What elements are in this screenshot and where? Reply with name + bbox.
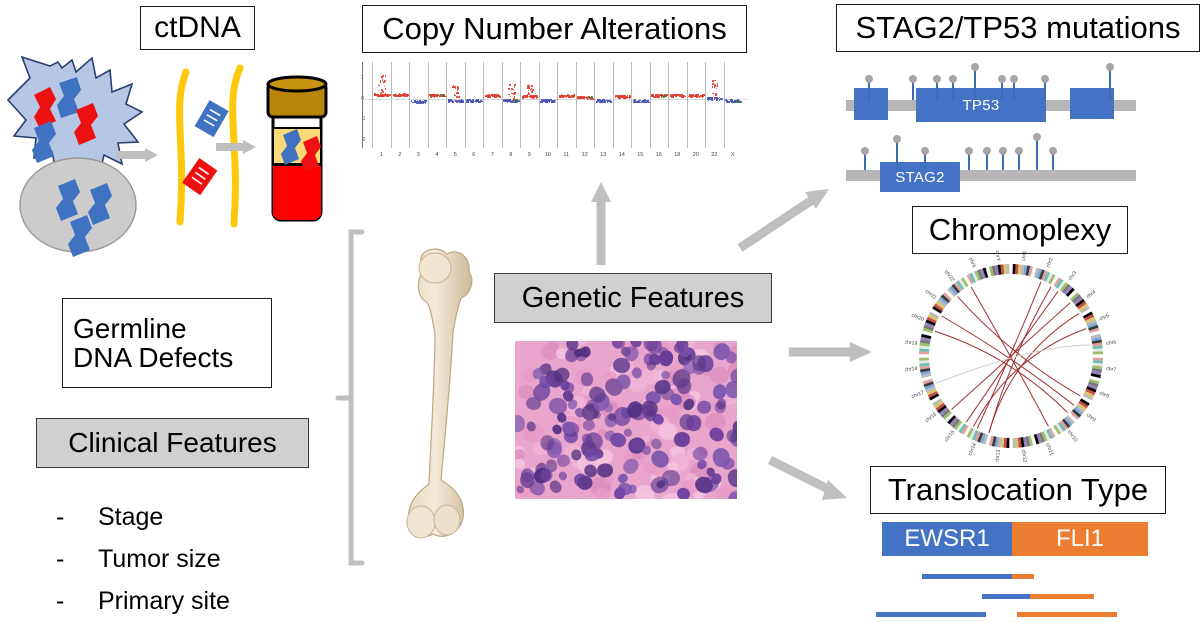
cna-data-point [716,99,718,101]
ctdna-title-text: ctDNA [154,12,241,44]
blood-collection-tube-icon [268,77,326,220]
cna-x-tick-label: 5 [454,152,457,158]
arrow-genetic-to-mutations [740,189,829,248]
cna-data-point [726,101,728,103]
tp53-mutation-marker [1010,75,1018,83]
tp53-mutation-stem [974,70,976,100]
cna-data-point [572,96,574,98]
cna-data-point [566,96,568,98]
circos-chromosome-label: chrX [967,257,977,270]
panel-title-clinical: Clinical Features [36,418,309,468]
circos-chromosome-label: chr11 [1044,442,1054,456]
cna-x-tick-label: 14 [619,152,625,158]
stag2-mutation-marker [861,147,869,155]
cna-data-point [658,96,660,98]
cna-data-point [393,94,395,96]
circos-translocation-link [966,291,1058,422]
histology-nucleus [583,420,596,432]
cna-x-tick-label: 13 [600,152,606,158]
circos-chromosome-label: chr14 [967,442,978,456]
cna-data-point [514,86,516,88]
cna-data-point [396,95,398,97]
germline-line2: DNA Defects [73,343,233,372]
circos-ideogram-band [919,351,929,354]
circos-chromosome-label: chr22 [943,269,956,283]
cna-chromosome-separator [446,62,447,148]
stag2-mutation-stem [1002,154,1004,170]
fusion-partner3-label: FLI1 [1056,525,1104,553]
tp53-mutation-stem [1044,82,1046,100]
histology-nucleus [541,468,553,482]
cna-data-point [382,75,384,77]
cna-x-tick-label: 20 [693,152,699,158]
stag2-gene-label: STAG2 [895,169,945,186]
circos-plot-icon: chr1chr2chr3chr4chr5chr6chr7chr8chr9chr1… [905,250,1117,462]
cna-data-point [637,101,639,103]
stag2-mutation-stem [1036,140,1038,170]
circos-translocation-link [973,329,1086,427]
cna-data-point [528,93,530,95]
cna-data-point [528,85,530,87]
histology-nucleus [541,435,555,450]
cna-data-point [714,84,716,86]
fusion-variant-row [1012,574,1034,579]
cna-data-point [707,98,709,100]
cna-data-point [534,95,536,97]
cna-data-point [642,100,644,102]
cna-data-point [508,88,510,90]
tp53-exon-block [1070,88,1114,119]
tp53-mutation-stem [868,82,870,100]
cna-data-point [515,101,517,103]
cna-x-tick-label: 10 [545,152,551,158]
stag2-mutation-stem [1018,154,1020,170]
femur-bone-icon [395,246,491,558]
histology-nucleus [547,479,564,496]
fusion-partner5-block: EWSR1 [882,522,1012,556]
circos-ideogram-band [1006,438,1009,448]
cna-data-point [577,97,579,99]
cna-data-point [716,88,718,90]
histology-nucleus [580,346,591,358]
circos-chromosome-label: chr2 [1045,257,1054,269]
circos-chromosome-label: chr17 [911,390,925,401]
list-item: - Stage [56,496,316,538]
chromoplexy-title-text: Chromoplexy [929,214,1112,247]
cna-chromosome-separator [668,62,669,148]
cna-data-point [378,85,380,87]
cna-data-point [430,96,432,98]
cna-data-point [452,86,454,88]
tp53-mutation-marker [949,75,957,83]
cna-chromosome-separator [705,62,706,148]
round-normal-cell-icon [20,158,136,257]
stag2-mutation-stem [896,142,898,170]
circos-chromosome-label: chr6 [1106,340,1117,347]
cna-x-tick-label: X [731,152,735,158]
tumor-chromosome-group [32,77,98,163]
cna-data-point [450,99,452,101]
circos-ideogram-band [1093,358,1103,361]
clinical-title-text: Clinical Features [68,428,277,457]
circos-chromosome-label: chr15 [943,429,956,443]
circos-ideogram-band [919,358,929,361]
cna-data-point [508,101,510,103]
cna-data-point [600,101,602,103]
list-item-label: Primary site [98,580,230,622]
cna-data-point [512,101,514,103]
cna-chromosome-separator [409,62,410,148]
cna-data-point [458,93,460,95]
cna-data-point [449,102,451,104]
cna-data-point [499,96,501,98]
tp53-mutation-stem [952,82,954,100]
cna-data-point [385,75,387,77]
cna-data-point [460,100,462,102]
stag2-mutation-stem [864,154,866,170]
cna-data-point [629,97,631,99]
circos-chromosome-label: chr19 [905,339,918,347]
arrow-genetic-to-translocation [770,460,847,500]
cna-data-point [496,96,498,98]
cna-chromosome-separator [428,62,429,148]
circos-chromosome-label: chr13 [994,449,1002,462]
cna-data-point [522,96,524,98]
cna-data-point [492,96,494,98]
stag2-mutation-stem [968,154,970,170]
histology-nucleus [692,355,707,371]
cna-chromosome-separator [520,62,521,148]
cna-data-point [569,96,571,98]
stag2-lollipop-track: STAG2 [846,126,1136,190]
cna-x-tick-label: 3 [417,152,420,158]
cna-data-point [532,89,534,91]
panel-title-ctdna: ctDNA [140,6,255,50]
cna-data-point [551,101,553,103]
cna-chromosome-separator [650,62,651,148]
histology-nucleus [687,415,702,431]
cna-data-point [510,96,512,98]
fusion-partner3-block: FLI1 [1012,522,1148,556]
cna-data-point [663,96,665,98]
cna-data-point [609,100,611,102]
cna-data-point [425,102,427,104]
stag2-mutation-marker [1033,133,1041,141]
cna-data-point [545,99,547,101]
cna-data-point [419,100,421,102]
bullet-dash: - [56,538,98,580]
list-item: - Tumor size [56,538,316,580]
cna-chromosome-separator [502,62,503,148]
stag2-mutation-stem [924,154,926,170]
cna-chromosome-separator [613,62,614,148]
cna-data-point [479,101,481,103]
circos-chromosome-label: chr9 [1085,412,1097,423]
cna-data-point [455,87,457,89]
cna-chromosome-separator [594,62,595,148]
cna-data-point [439,96,441,98]
histology-nucleus [674,432,690,447]
histology-stroma-blob [595,488,610,499]
tp53-mutation-stem [936,82,938,100]
circos-chromosome-label: chr12 [1020,449,1028,462]
histology-stroma-blob [710,367,730,384]
stag2-mutation-marker [983,147,991,155]
cna-data-point [681,96,683,98]
arrow-genetic-to-cna [591,182,611,265]
tp53-mutation-stem [1001,82,1003,100]
stag2-mutation-stem [1052,154,1054,170]
fusion-variant-row [1017,612,1117,617]
cna-chromosome-separator [391,62,392,148]
stag2-mutation-marker [965,147,973,155]
arrow-genetic-to-chromoplexy [789,342,872,362]
cna-data-point [644,101,646,103]
cna-x-tick-label: 15 [637,152,643,158]
list-item-label: Tumor size [98,538,221,580]
cna-data-point [690,94,692,96]
fusion-variant-row [1030,594,1094,599]
cna-chromosome-separator [483,62,484,148]
mutations-title-text: STAG2/TP53 mutations [855,12,1180,45]
genetic-title-text: Genetic Features [522,283,744,313]
cna-data-point [715,94,717,96]
cna-chromosome-separator [539,62,540,148]
cna-data-point [494,94,496,96]
circos-chromosome-label: chr18 [905,366,918,374]
cna-data-point [712,93,714,95]
circos-translocation-link [977,282,1041,429]
cna-data-point [457,86,459,88]
cna-data-point [714,97,716,99]
circos-ideogram-band [1093,351,1103,354]
tube-chromosome-group [281,129,321,172]
histology-nucleus [563,382,575,394]
cna-data-point [382,91,384,93]
spiky-tumor-cell-icon [8,57,142,176]
tp53-mutation-marker [971,63,979,71]
cna-chromosome-separator [372,62,373,148]
arrow-dna-to-tube [216,140,256,154]
tp53-mutation-marker [998,75,1006,83]
cna-data-point [496,94,498,96]
arrow-cell-to-dna [116,148,158,162]
clinical-features-list: - Stage - Tumor size - Primary site [56,496,316,622]
cna-data-point [623,95,625,97]
cna-x-tick-label: 6 [472,152,475,158]
panel-title-germline: Germline DNA Defects [62,298,272,388]
cna-data-point [634,102,636,104]
stag2-mutation-marker [1049,147,1057,155]
cna-data-point [467,99,469,101]
list-item-label: Stage [98,496,163,538]
cna-data-point [736,101,738,103]
circos-chromosome-label: chrY [994,250,1001,262]
list-item: - Primary site [56,580,316,622]
tp53-mutation-stem [1109,70,1111,100]
cna-data-point [381,89,383,91]
cna-data-point [514,96,516,98]
cna-data-point [527,87,529,89]
tp53-mutation-stem [912,82,914,100]
cna-data-point [509,84,511,86]
cna-x-tick-label: 2 [398,152,401,158]
cna-data-point [714,80,716,82]
cna-data-point [624,97,626,99]
cna-data-point [381,95,383,97]
circos-ideogram-band [1006,264,1009,274]
he-histology-image [515,341,737,499]
histology-nucleus [558,470,569,481]
dna-strand-icon [180,68,240,224]
fusion-variant-row [876,612,986,617]
circos-chromosome-label: chr8 [1098,390,1110,399]
cna-data-point [514,92,516,94]
panel-title-chromoplexy: Chromoplexy [912,206,1128,254]
cna-data-point [562,97,564,99]
tp53-mutation-marker [933,75,941,83]
cna-data-point [709,98,711,100]
stag2-mutation-marker [893,135,901,143]
circos-translocation-link [952,302,1071,409]
cna-x-tick-label: 22 [711,152,717,158]
cna-chromosome-separator [557,62,558,148]
tp53-exon-block [854,88,888,120]
stag2-mutation-stem [986,154,988,170]
tp53-mutation-stem [1013,82,1015,100]
cna-data-point [425,100,427,102]
germline-line1: Germline [73,314,187,343]
circos-chromosome-label: chr21 [924,288,938,301]
cna-chromosome-separator [631,62,632,148]
cna-data-point [739,101,741,103]
tp53-gene-label: TP53 [962,97,999,114]
circos-chromosome-label: chr4 [1086,289,1098,300]
circos-chromosome-label: chr7 [1106,366,1117,373]
stag2-mutation-marker [999,147,1007,155]
cna-chromosome-separator [576,62,577,148]
tp53-lollipop-track: TP53 [846,62,1136,122]
cna-data-point [380,81,382,83]
fusion-variant-row [982,594,1030,599]
circos-ideogram-band [1013,438,1016,448]
fusion-partner5-label: EWSR1 [904,525,989,553]
circos-chromosome-label: chr3 [1067,270,1078,282]
cna-data-point [531,85,533,87]
histology-nucleus [571,449,581,460]
cna-chromosome-separator [687,62,688,148]
panel-title-mutations: STAG2/TP53 mutations [836,4,1200,52]
cna-data-point [531,91,533,93]
circos-chromosome-label: chr1 [1021,250,1028,261]
cna-data-point [414,102,416,104]
cna-data-point [545,101,547,103]
cna-data-point [508,94,510,96]
circos-chromosome-label: chr5 [1099,313,1111,322]
stag2-mutation-marker [1015,147,1023,155]
cna-data-point [384,80,386,82]
cna-data-point [712,97,714,99]
cna-data-point [472,99,474,101]
stag2-gene-block: STAG2 [880,162,960,192]
cna-x-tick-label: 12 [582,152,588,158]
histology-stroma-blob [515,459,525,469]
fusion-variant-row [922,574,1012,579]
cna-data-point [640,102,642,104]
cna-data-point [422,102,424,104]
histology-nucleus [580,372,593,386]
tp53-mutation-marker [1041,75,1049,83]
histology-nucleus [662,470,680,486]
cna-data-point [383,81,385,83]
cna-data-point [540,101,542,103]
cna-data-point [620,95,622,97]
cna-chromosome-separator [465,62,466,148]
cna-data-point [458,96,460,98]
circos-chromosome-label: chr10 [1066,429,1079,443]
histology-stroma-blob [572,497,588,499]
circos-chromosome-label: chr20 [910,312,924,323]
cna-chromosome-separator [724,62,725,148]
cna-x-tick-label: 7 [491,152,494,158]
panel-title-translocation: Translocation Type [870,466,1166,514]
cfdna-fragment-group [182,100,229,195]
cna-data-point [375,94,377,96]
stag2-mutation-marker [921,147,929,155]
panel-title-cna: Copy Number Alterations [362,5,747,53]
cna-x-tick-label: 8 [509,152,512,158]
cna-data-point [720,98,722,100]
cna-data-point [412,102,414,104]
cna-data-point [717,85,719,87]
tp53-mutation-marker [909,75,917,83]
cna-scatter-plot: 10-1-212345678910111213141516182022X [362,62,748,170]
translocation-title-text: Translocation Type [888,474,1148,507]
cna-x-tick-label: 11 [563,152,569,158]
cna-title-text: Copy Number Alterations [382,13,727,46]
histology-nucleus [697,400,712,414]
histology-nucleus [629,484,637,493]
tp53-mutation-marker [865,75,873,83]
panel-title-genetic: Genetic Features [494,273,772,323]
cna-data-point [472,101,474,103]
circos-chromosome-label: chr16 [924,411,938,424]
circos-ideogram-band [1013,264,1016,274]
tp53-mutation-marker [1106,63,1114,71]
bullet-dash: - [56,580,98,622]
cna-x-tick-label: 18 [674,152,680,158]
cna-x-tick-label: 1 [380,152,383,158]
cna-data-point [672,96,674,98]
histology-stroma-blob [515,449,525,459]
cna-x-tick-label: 16 [656,152,662,158]
cna-x-tick-label: 4 [435,152,438,158]
cna-data-point [385,88,387,90]
bullet-dash: - [56,496,98,538]
translocation-fusion-diagram: EWSR1 FLI1 [882,522,1182,617]
cna-data-point [454,95,456,97]
cna-x-tick-label: 9 [528,152,531,158]
